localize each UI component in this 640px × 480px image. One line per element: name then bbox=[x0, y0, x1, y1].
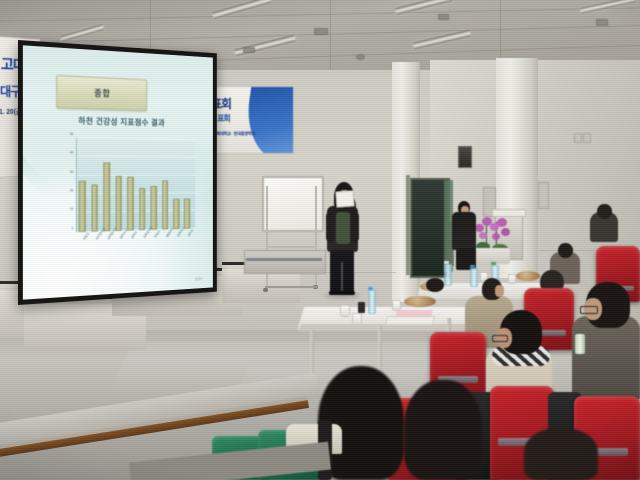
tray bbox=[385, 316, 435, 325]
chart-y-tick: 20 bbox=[70, 188, 74, 192]
wall-outlet[interactable] bbox=[574, 133, 582, 143]
slide-header-badge-label: 종합 bbox=[94, 87, 111, 100]
chart-bar bbox=[139, 188, 146, 230]
audience-head bbox=[558, 243, 573, 258]
ceiling-light bbox=[413, 30, 471, 50]
chart-bar bbox=[115, 175, 122, 230]
water-bottle bbox=[444, 264, 452, 286]
bar-chart: 01020304050 하양교대구입수교남천입수교청천수교남천교금호입수교안심교… bbox=[52, 137, 196, 232]
chart-x-tick: 대구입수교 bbox=[94, 233, 101, 240]
smoke-detector-icon bbox=[356, 54, 365, 60]
drink-can bbox=[575, 334, 585, 354]
slide-logo: 환경부 bbox=[195, 277, 203, 282]
whiteboard-leg bbox=[266, 186, 268, 290]
presenter-shirt bbox=[336, 212, 350, 244]
baseboard-heater-stripe bbox=[246, 258, 322, 261]
wall-panel bbox=[538, 182, 549, 209]
ceiling-vent bbox=[314, 28, 328, 35]
water-bottle bbox=[368, 290, 376, 314]
snack-plate bbox=[404, 296, 436, 307]
water-bottle bbox=[470, 268, 478, 287]
whiteboard-base bbox=[265, 286, 317, 288]
chart-bar bbox=[79, 181, 86, 232]
chart-y-tick: 30 bbox=[70, 170, 74, 174]
chart-y-tick: 40 bbox=[70, 151, 74, 155]
chart-x-tick: 하양교 bbox=[82, 234, 89, 241]
bottle-cap bbox=[368, 287, 373, 290]
chart-y-tick: 50 bbox=[70, 132, 74, 136]
chart-x-axis-labels: 하양교대구입수교남천입수교청천수교남천교금호입수교안심교팔달대교강정대교성주교 bbox=[76, 228, 192, 265]
chart-x-tick: 청천수교 bbox=[118, 232, 125, 239]
table-leg bbox=[378, 326, 382, 370]
bottle-cap bbox=[470, 265, 475, 268]
dark-container bbox=[358, 302, 365, 313]
banner-right-line2: 표회 bbox=[217, 113, 230, 124]
seated-man-torso bbox=[452, 212, 476, 250]
chart-bar bbox=[173, 198, 179, 229]
eyeglasses-icon bbox=[492, 335, 508, 342]
ceiling-vent bbox=[243, 47, 255, 53]
screenshot-root: 고대 대구 · 1. 20(금) 1 표회 표회 경북대학교 · 한국환경학회 … bbox=[0, 0, 640, 480]
audience-member-long-hair bbox=[426, 278, 444, 292]
chart-y-tick: 10 bbox=[70, 207, 74, 211]
paper-cup bbox=[340, 305, 350, 317]
slide-header-badge: 종합 bbox=[56, 75, 147, 111]
audience-head-foreground bbox=[404, 380, 482, 480]
chart-bar bbox=[184, 198, 190, 228]
bottle-cap bbox=[491, 262, 496, 265]
audience-head bbox=[597, 204, 612, 219]
presenter-shadow bbox=[324, 293, 360, 298]
wall-outlet[interactable] bbox=[583, 133, 591, 143]
paper-cup bbox=[508, 274, 516, 284]
audience-head-foreground bbox=[524, 428, 598, 480]
chart-x-tick: 성주교 bbox=[187, 230, 193, 237]
chart-bars bbox=[76, 138, 192, 232]
chart-x-tick: 남천교 bbox=[130, 232, 136, 239]
bottle-cap bbox=[444, 261, 449, 264]
banner-right-line3: 경북대학교 · 한국환경학회 bbox=[213, 131, 255, 137]
ceiling-vent bbox=[596, 19, 608, 26]
chart-x-tick: 강정대교 bbox=[176, 231, 182, 238]
chart-x-tick: 남천입수교 bbox=[106, 233, 113, 240]
audience-member-right bbox=[572, 316, 640, 400]
baseboard-heater bbox=[244, 250, 326, 274]
chart-x-tick: 안심교 bbox=[153, 231, 159, 238]
wall-speaker bbox=[458, 146, 472, 168]
chart-bar bbox=[127, 177, 134, 230]
flower-pot bbox=[470, 248, 510, 264]
presenter-arm-right bbox=[351, 212, 359, 242]
presenter-papers bbox=[335, 190, 354, 207]
chart-bar bbox=[162, 181, 168, 230]
whiteboard-caster bbox=[263, 288, 268, 292]
chart-x-tick: 팔달대교 bbox=[164, 231, 170, 238]
banner-right: 표회 표회 경북대학교 · 한국환경학회 bbox=[206, 86, 294, 154]
audience-face bbox=[495, 285, 504, 297]
refreshment-table-edge bbox=[299, 324, 479, 331]
ceiling-vent bbox=[438, 14, 449, 20]
projection-screen: 종합 하천 건강성 지표점수 결과 01020304050 하양교대구입수교남천… bbox=[18, 40, 217, 305]
chart-bar bbox=[91, 185, 98, 232]
chart-y-tick: 0 bbox=[72, 226, 74, 230]
paper-cup bbox=[352, 313, 362, 325]
snack-plate bbox=[516, 271, 540, 281]
eyeglasses-icon bbox=[580, 306, 598, 314]
presentation-slide: 종합 하천 건강성 지표점수 결과 01020304050 하양교대구입수교남천… bbox=[23, 45, 213, 299]
chart-bar bbox=[103, 162, 110, 231]
presenter-arm-left bbox=[326, 212, 334, 242]
door-frame bbox=[406, 175, 410, 275]
table-leg bbox=[310, 330, 314, 378]
chart-x-tick: 금호입수교 bbox=[142, 232, 148, 239]
chart-bar bbox=[150, 186, 156, 229]
whiteboard-crossbar bbox=[266, 246, 317, 248]
ceiling-light bbox=[234, 35, 296, 57]
